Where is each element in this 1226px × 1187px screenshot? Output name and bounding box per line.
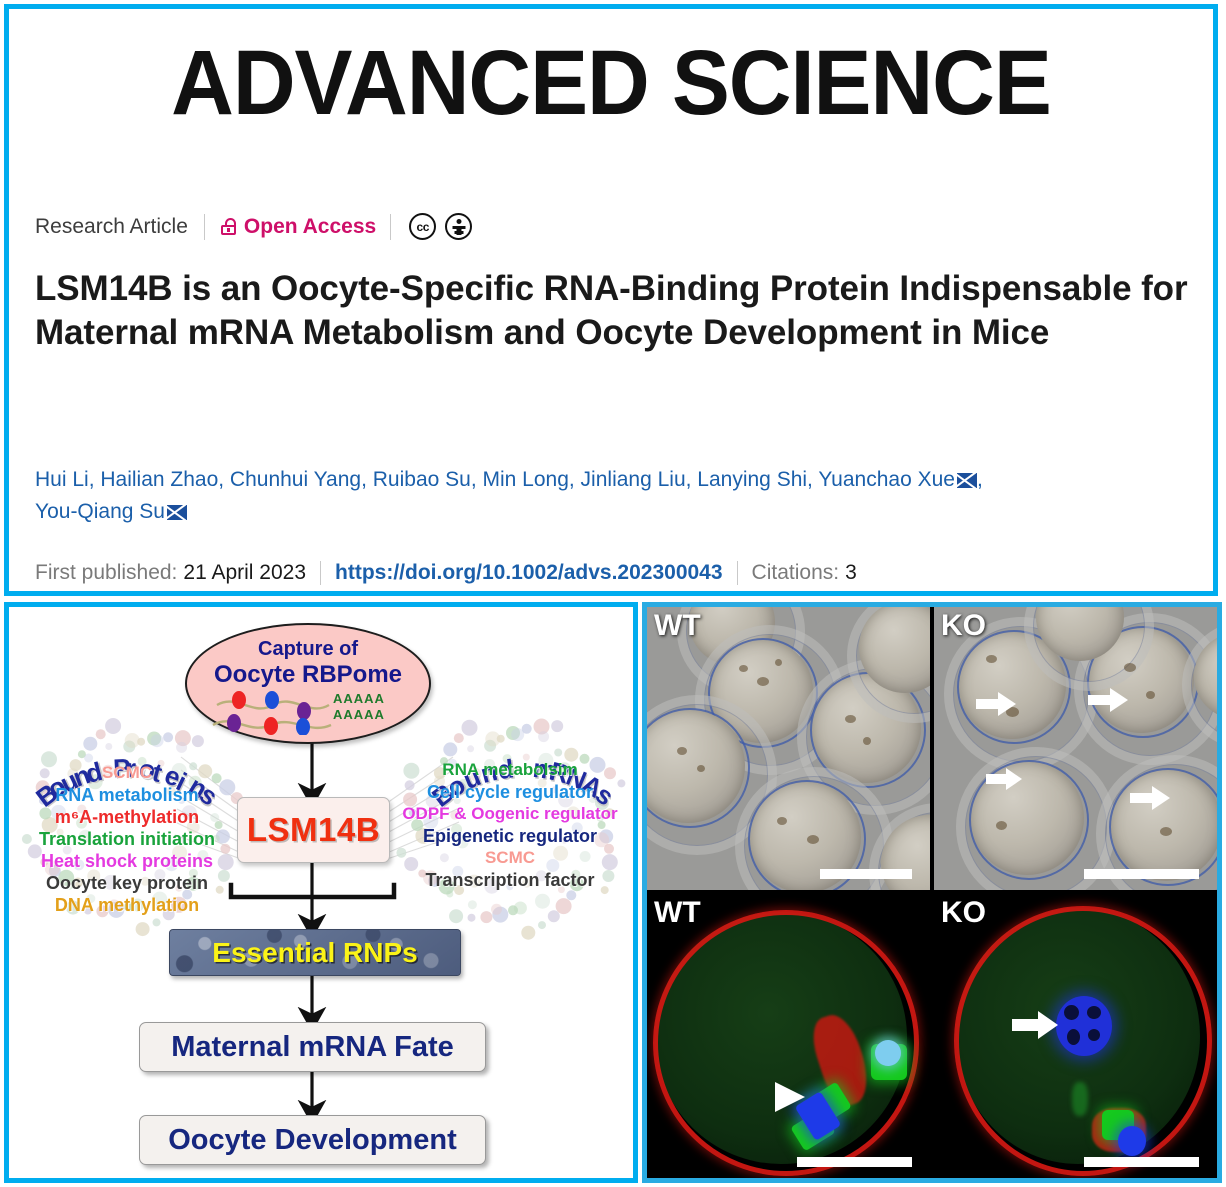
cluster-item-label: m⁶A-methylation [13, 806, 241, 828]
cluster-item-label: Heat shock proteins [13, 850, 241, 872]
scale-bar-ko-bf [1084, 869, 1199, 879]
hub-title-line-2: Oocyte RBPome [187, 661, 429, 689]
micrograph-ko-fluorescence: KO [934, 894, 1217, 1178]
article-meta-row: Research Article Open Access cc [35, 213, 472, 240]
page-title: LSM14B is an Oocyte-Specific RNA-Binding… [35, 267, 1205, 355]
cluster-item-label: ODPF & Oogenic regulator [387, 803, 633, 825]
article-type-label: Research Article [35, 215, 188, 239]
cluster-item-label: Epigenetic regulator [387, 825, 633, 847]
hub-node-oocyte-rbpome: Capture of Oocyte RBPome AAAAA AAAAA [185, 623, 431, 744]
pathway-diagram: Capture of Oocyte RBPome AAAAA AAAAA Bou… [9, 607, 633, 1178]
arrow-marker-3 [986, 767, 1024, 791]
authors-line-1[interactable]: Hui Li, Hailian Zhao, Chunhui Yang, Ruib… [35, 468, 955, 491]
authors-line-2[interactable]: You-Qiang Su [35, 500, 165, 523]
pub-divider-1 [320, 561, 321, 585]
cluster-item-label: RNA metabolism [13, 784, 241, 806]
poly-a-tail-1: AAAAA [333, 691, 385, 706]
cc-by-person-icon[interactable] [445, 213, 472, 240]
first-published-label: First published: [35, 561, 177, 585]
node-oocyte-development-label: Oocyte Development [168, 1124, 456, 1157]
open-access-label: Open Access [244, 215, 376, 239]
journal-logo-text: ADVANCED SCIENCE [171, 38, 1051, 130]
graphical-abstract-panel: Capture of Oocyte RBPome AAAAA AAAAA Bou… [4, 602, 638, 1183]
arrowhead-marker [773, 1080, 807, 1114]
micrograph-ko-brightfield: KO [934, 607, 1217, 890]
node-lsm14b: LSM14B [237, 797, 390, 863]
open-access-badge[interactable]: Open Access [221, 215, 376, 239]
hub-title-line-1: Capture of [187, 638, 429, 661]
cluster-item-label: Cell cycle regulator [387, 781, 633, 803]
open-lock-icon [221, 218, 236, 235]
cluster-item-label: Transcription factor [387, 869, 633, 891]
micrograph-label-wt-fl: WT [654, 896, 701, 930]
node-essential-rnps: Essential RNPs [169, 929, 461, 976]
meta-divider-2 [390, 214, 391, 240]
cluster-item-label: DNA methylation [13, 894, 241, 916]
journal-logo: ADVANCED SCIENCE [9, 43, 1213, 125]
left-cluster-items: SCMCRNA metabolismm⁶A-methylationTransla… [13, 762, 241, 916]
arrow-marker-2 [1088, 687, 1130, 713]
node-essential-rnps-label: Essential RNPs [212, 937, 417, 969]
scale-bar-wt-fl [797, 1157, 912, 1167]
micrograph-wt-fluorescence: WT [647, 894, 930, 1178]
arrow-marker-4 [1130, 785, 1172, 811]
cluster-item-label: RNA metabolsim [387, 759, 633, 781]
pub-divider-2 [737, 561, 738, 585]
poly-a-tail-2: AAAAA [333, 707, 385, 722]
node-maternal-mrna-fate: Maternal mRNA Fate [139, 1022, 486, 1072]
scale-bar-wt-bf [820, 869, 912, 879]
right-cluster-items: RNA metabolsimCell cycle regulatorODPF &… [387, 759, 633, 891]
article-header-card: ADVANCED SCIENCE Research Article Open A… [4, 4, 1218, 596]
micrograph-panel: WT [642, 602, 1222, 1183]
arrow-marker-1 [976, 691, 1018, 717]
first-published-date: 21 April 2023 [183, 561, 306, 585]
node-lsm14b-label: LSM14B [247, 811, 380, 849]
micrograph-label-ko-fl: KO [941, 896, 986, 930]
arrow-marker-nucleus [1012, 1010, 1060, 1040]
license-icons: cc [409, 213, 472, 240]
doi-link[interactable]: https://doi.org/10.1002/advs.202300043 [335, 561, 723, 585]
cluster-item-label: SCMC [13, 762, 241, 784]
scale-bar-ko-fl [1084, 1157, 1199, 1167]
cluster-item-label: Translation initiation [13, 828, 241, 850]
author-list: Hui Li, Hailian Zhao, Chunhui Yang, Ruib… [35, 464, 1210, 527]
cluster-item-label: Oocyte key protein [13, 872, 241, 894]
node-oocyte-development: Oocyte Development [139, 1115, 486, 1165]
publication-info: First published: 21 April 2023 https://d… [35, 561, 1205, 585]
micrograph-grid: WT [647, 607, 1217, 1178]
micrograph-label-wt-bf: WT [654, 609, 701, 643]
cluster-item-label: SCMC [387, 847, 633, 869]
micrograph-wt-brightfield: WT [647, 607, 930, 890]
creative-commons-icon[interactable]: cc [409, 213, 436, 240]
email-icon-su[interactable] [167, 505, 187, 520]
multi-lobed-nucleus [1056, 996, 1112, 1056]
meta-divider-1 [204, 214, 205, 240]
micrograph-label-ko-bf: KO [941, 609, 986, 643]
article-preview-page: ADVANCED SCIENCE Research Article Open A… [0, 0, 1226, 1187]
email-icon-xue[interactable] [957, 473, 977, 488]
citations-count: 3 [845, 561, 857, 585]
citations-label: Citations: [752, 561, 840, 585]
node-maternal-mrna-fate-label: Maternal mRNA Fate [171, 1031, 454, 1064]
